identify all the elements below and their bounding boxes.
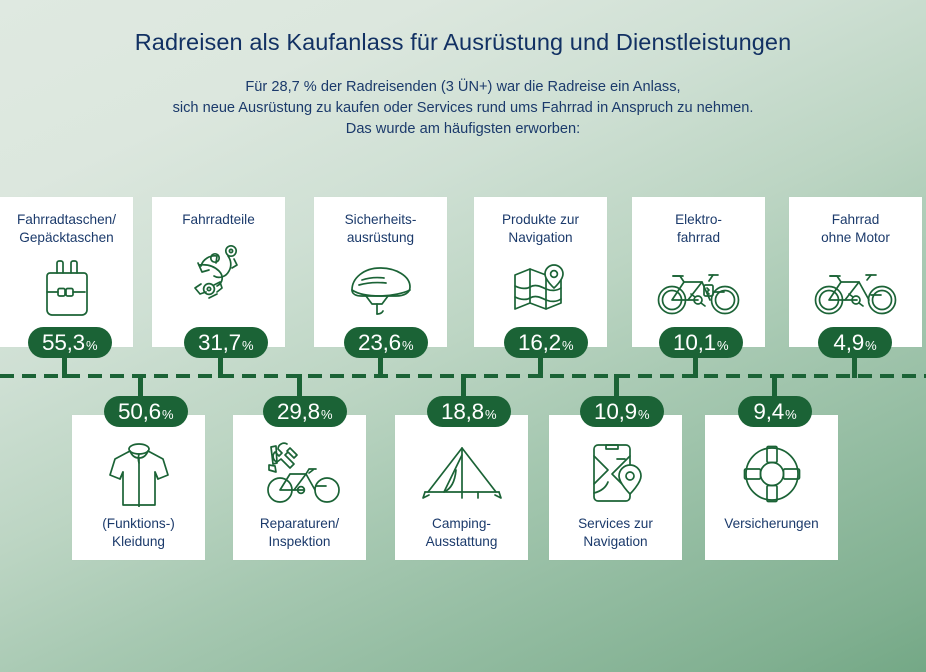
category-label-line: Camping-: [395, 515, 528, 533]
category-card[interactable]: Fahrradtaschen/Gepäcktaschen: [0, 197, 133, 347]
percentage-value: 10,9: [594, 396, 637, 427]
percent-sign: %: [865, 330, 877, 361]
percentage-badge: 9,4%: [738, 396, 812, 427]
jersey-icon: [72, 437, 205, 511]
category-card[interactable]: Produkte zurNavigation: [474, 197, 607, 347]
percent-sign: %: [402, 330, 414, 361]
percentage-badge: 4,9%: [818, 327, 892, 358]
percent-sign: %: [638, 399, 650, 430]
percentage-value: 31,7: [198, 327, 241, 358]
percent-sign: %: [717, 330, 729, 361]
category-label: Fahrradteile: [152, 211, 285, 229]
folded-map-icon: [474, 253, 607, 327]
category-label-line: Fahrradteile: [152, 211, 285, 229]
category-label-line: Sicherheits-: [314, 211, 447, 229]
percentage-value: 50,6: [118, 396, 161, 427]
category-label: Fahrradtaschen/Gepäcktaschen: [0, 211, 133, 247]
percentage-badge: 23,6%: [344, 327, 428, 358]
percentage-badge: 16,2%: [504, 327, 588, 358]
percent-sign: %: [162, 399, 174, 430]
category-card[interactable]: Camping-Ausstattung: [395, 415, 528, 560]
category-card[interactable]: Fahrradteile: [152, 197, 285, 347]
category-label: Versicherungen: [705, 515, 838, 533]
category-label: Fahrradohne Motor: [789, 211, 922, 247]
percent-sign: %: [562, 330, 574, 361]
percent-sign: %: [86, 330, 98, 361]
e-bike-icon: [632, 253, 765, 327]
percent-sign: %: [485, 399, 497, 430]
percentage-badge: 18,8%: [427, 396, 511, 427]
category-card[interactable]: (Funktions-)Kleidung: [72, 415, 205, 560]
category-label-line: Navigation: [474, 229, 607, 247]
subtitle-line-1: Für 28,7 % der Radreisenden (3 ÜN+) war …: [0, 77, 926, 98]
subtitle-line-3: Das wurde am häufigsten erworben:: [0, 119, 926, 140]
category-label-line: Navigation: [549, 533, 682, 551]
percentage-badge: 29,8%: [263, 396, 347, 427]
category-label: Services zurNavigation: [549, 515, 682, 551]
subtitle-line-2: sich neue Ausrüstung zu kaufen oder Serv…: [0, 98, 926, 119]
category-label: Elektro-fahrrad: [632, 211, 765, 247]
category-label-line: Ausstattung: [395, 533, 528, 551]
pannier-bag-icon: [0, 253, 133, 327]
category-label: Camping-Ausstattung: [395, 515, 528, 551]
category-label-line: Elektro-: [632, 211, 765, 229]
category-label-line: (Funktions-): [72, 515, 205, 533]
category-label-line: ohne Motor: [789, 229, 922, 247]
tent-icon: [395, 437, 528, 511]
category-label-line: Fahrrad: [789, 211, 922, 229]
life-ring-icon: [705, 437, 838, 511]
percentage-value: 55,3: [42, 327, 85, 358]
bike-repair-icon: [233, 437, 366, 511]
category-card[interactable]: Fahrradohne Motor: [789, 197, 922, 347]
category-label-line: Reparaturen/: [233, 515, 366, 533]
category-label-line: Inspektion: [233, 533, 366, 551]
category-card[interactable]: Services zurNavigation: [549, 415, 682, 560]
percentage-value: 29,8: [277, 396, 320, 427]
derailleur-icon: [152, 235, 285, 309]
page-title: Radreisen als Kaufanlass für Ausrüstung …: [0, 29, 926, 56]
percent-sign: %: [321, 399, 333, 430]
percentage-value: 10,1: [673, 327, 716, 358]
percentage-value: 9,4: [753, 396, 784, 427]
percentage-badge: 50,6%: [104, 396, 188, 427]
percentage-badge: 10,1%: [659, 327, 743, 358]
percentage-value: 23,6: [358, 327, 401, 358]
category-card[interactable]: Elektro-fahrrad: [632, 197, 765, 347]
percentage-value: 4,9: [833, 327, 864, 358]
percentage-value: 18,8: [441, 396, 484, 427]
category-card[interactable]: Reparaturen/Inspektion: [233, 415, 366, 560]
percent-sign: %: [242, 330, 254, 361]
category-label-line: Gepäcktaschen: [0, 229, 133, 247]
percentage-badge: 31,7%: [184, 327, 268, 358]
category-label-line: ausrüstung: [314, 229, 447, 247]
category-label-line: Kleidung: [72, 533, 205, 551]
percentage-badge: 10,9%: [580, 396, 664, 427]
category-label-line: Services zur: [549, 515, 682, 533]
percentage-value: 16,2: [518, 327, 561, 358]
page-subtitle: Für 28,7 % der Radreisenden (3 ÜN+) war …: [0, 77, 926, 140]
category-label: Reparaturen/Inspektion: [233, 515, 366, 551]
category-label: Produkte zurNavigation: [474, 211, 607, 247]
category-card[interactable]: Versicherungen: [705, 415, 838, 560]
category-label: Sicherheits-ausrüstung: [314, 211, 447, 247]
percentage-badge: 55,3%: [28, 327, 112, 358]
category-label: (Funktions-)Kleidung: [72, 515, 205, 551]
category-label-line: fahrrad: [632, 229, 765, 247]
helmet-icon: [314, 253, 447, 327]
percent-sign: %: [785, 399, 797, 430]
category-card[interactable]: Sicherheits-ausrüstung: [314, 197, 447, 347]
bicycle-icon: [789, 253, 922, 327]
category-label-line: Produkte zur: [474, 211, 607, 229]
infographic-header: Radreisen als Kaufanlass für Ausrüstung …: [0, 0, 926, 140]
category-label-line: Fahrradtaschen/: [0, 211, 133, 229]
phone-map-icon: [549, 437, 682, 511]
category-label-line: Versicherungen: [705, 515, 838, 533]
